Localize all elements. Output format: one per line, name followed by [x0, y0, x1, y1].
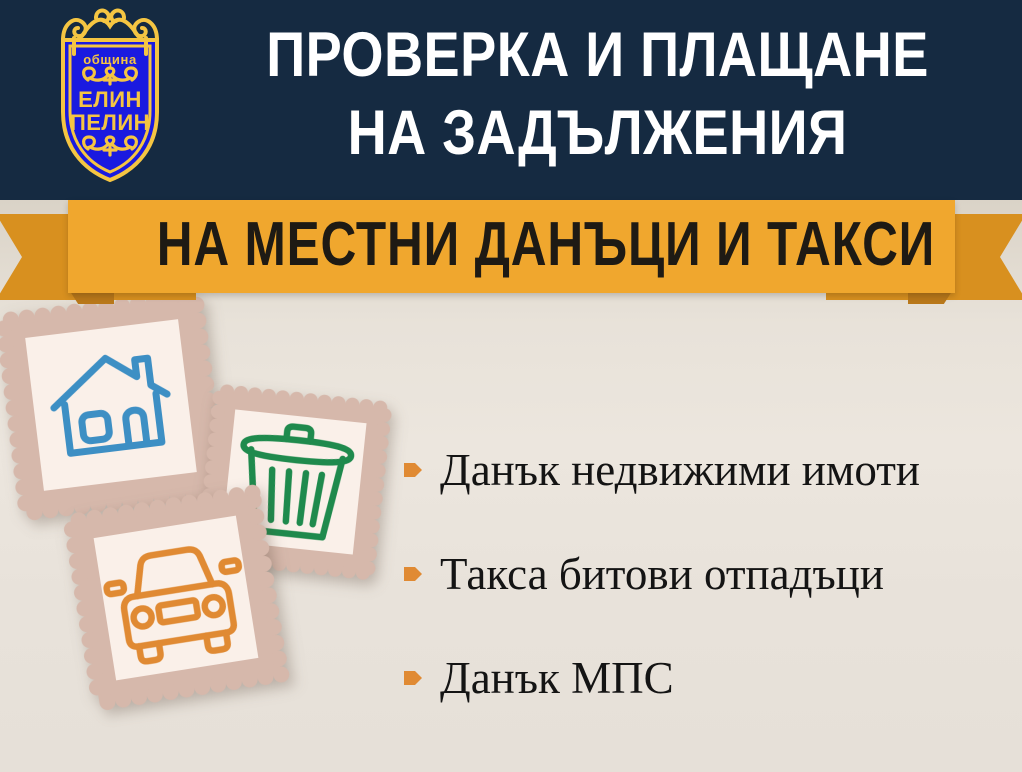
tax-types-list: Данък недвижими имоти Такса битови отпад…	[398, 418, 1018, 730]
ribbon-band: НА МЕСТНИ ДАНЪЦИ И ТАКСИ	[68, 200, 955, 293]
ribbon-label: НА МЕСТНИ ДАНЪЦИ И ТАКСИ	[157, 208, 867, 282]
stamp-illustrations	[0, 296, 420, 772]
pentagon-arrow-bullet-icon	[402, 459, 424, 481]
list-item-label: Данък МПС	[440, 652, 674, 704]
coat-of-arms-logo: община ЕЛИН ПЕЛИН	[30, 6, 190, 191]
list-item[interactable]: Данък недвижими имоти	[398, 418, 1018, 522]
stamp-card-vehicle	[62, 484, 291, 713]
logo-label-top: община	[83, 52, 137, 67]
page-title-line-1: ПРОВЕРКА И ПЛАЩАНЕ	[266, 20, 929, 90]
pentagon-arrow-bullet-icon	[402, 563, 424, 585]
list-item-label: Данък недвижими имоти	[440, 444, 920, 496]
poster-canvas: ПРОВЕРКА И ПЛАЩАНЕ НА ЗАДЪЛЖЕНИЯ	[0, 0, 1022, 772]
list-item[interactable]: Такса битови отпадъци	[398, 522, 1018, 626]
list-item-label: Такса битови отпадъци	[440, 548, 884, 600]
pentagon-arrow-bullet-icon	[402, 667, 424, 689]
list-item[interactable]: Данък МПС	[398, 626, 1018, 730]
logo-label-line-2: ПЕЛИН	[70, 110, 150, 135]
page-title: ПРОВЕРКА И ПЛАЩАНЕ НА ЗАДЪЛЖЕНИЯ	[247, 16, 948, 172]
stamp-card-house	[0, 288, 228, 522]
logo-label-line-1: ЕЛИН	[78, 87, 142, 112]
page-title-line-2: НА ЗАДЪЛЖЕНИЯ	[247, 94, 948, 172]
subtitle-ribbon: НА МЕСТНИ ДАНЪЦИ И ТАКСИ	[0, 196, 1022, 304]
